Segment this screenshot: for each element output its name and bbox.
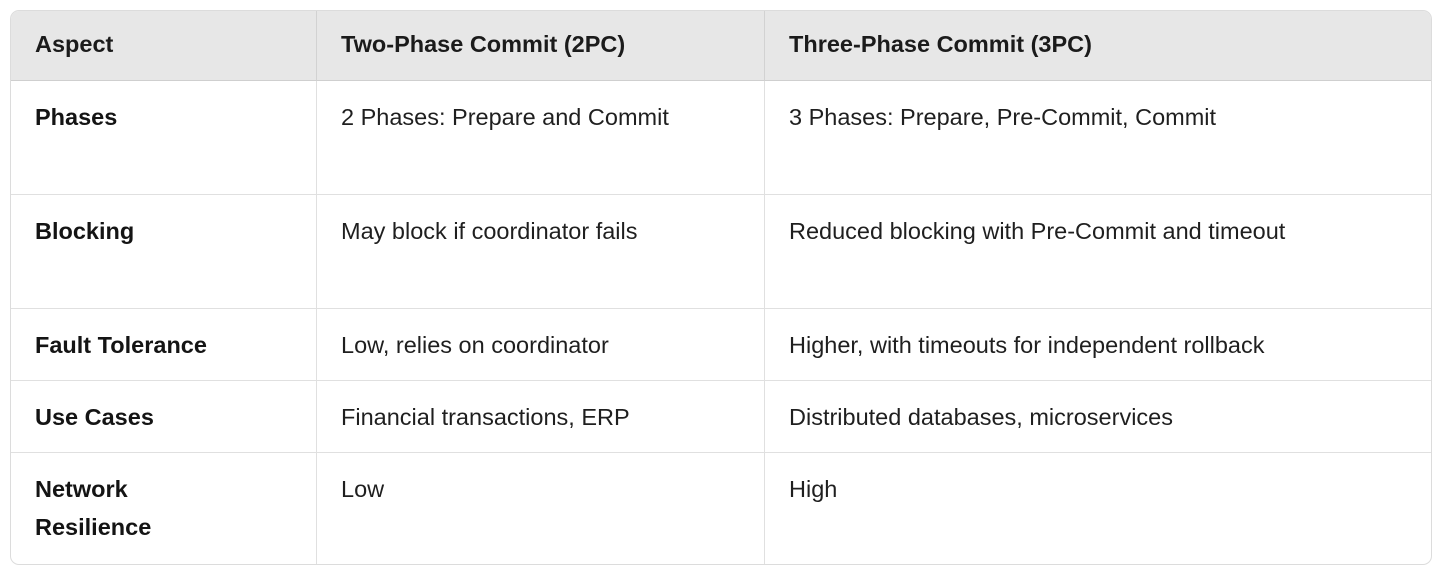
- cell-text: May block if coordinator fails: [341, 212, 671, 250]
- cell-text: Fault Tolerance: [35, 326, 215, 364]
- cell-text: High: [789, 470, 1329, 508]
- cell-text: 2 Phases: Prepare and Commit: [341, 98, 671, 136]
- cell-3pc-network-resilience: High: [765, 453, 1431, 564]
- table-row: Fault Tolerance Low, relies on coordinat…: [11, 309, 1431, 381]
- cell-aspect-fault-tolerance: Fault Tolerance: [11, 309, 317, 381]
- cell-3pc-use-cases: Distributed databases, microservices: [765, 381, 1431, 453]
- cell-text: Phases: [35, 98, 215, 136]
- cell-aspect-network-resilience: Network Resilience: [11, 453, 317, 564]
- cell-text: Low: [341, 470, 671, 508]
- cell-2pc-fault-tolerance: Low, relies on coordinator: [317, 309, 765, 381]
- cell-3pc-fault-tolerance: Higher, with timeouts for independent ro…: [765, 309, 1431, 381]
- table-row: Phases 2 Phases: Prepare and Commit 3 Ph…: [11, 81, 1431, 195]
- cell-aspect-phases: Phases: [11, 81, 317, 195]
- table-row: Blocking May block if coordinator fails …: [11, 195, 1431, 309]
- cell-3pc-blocking: Reduced blocking with Pre-Commit and tim…: [765, 195, 1431, 309]
- cell-text: Low, relies on coordinator: [341, 326, 671, 364]
- cell-aspect-blocking: Blocking: [11, 195, 317, 309]
- cell-text: Blocking: [35, 212, 215, 250]
- table-body: Phases 2 Phases: Prepare and Commit 3 Ph…: [11, 81, 1431, 564]
- cell-2pc-phases: 2 Phases: Prepare and Commit: [317, 81, 765, 195]
- table-header-row: Aspect Two-Phase Commit (2PC) Three-Phas…: [11, 11, 1431, 81]
- table-row: Network Resilience Low High: [11, 453, 1431, 564]
- column-header-two-phase-commit: Two-Phase Commit (2PC): [317, 11, 765, 81]
- table-header: Aspect Two-Phase Commit (2PC) Three-Phas…: [11, 11, 1431, 81]
- cell-2pc-blocking: May block if coordinator fails: [317, 195, 765, 309]
- cell-text: Financial transactions, ERP: [341, 398, 671, 436]
- cell-2pc-network-resilience: Low: [317, 453, 765, 564]
- column-header-aspect: Aspect: [11, 11, 317, 81]
- cell-text: 3 Phases: Prepare, Pre-Commit, Commit: [789, 98, 1329, 136]
- cell-text: Use Cases: [35, 398, 215, 436]
- comparison-table: Aspect Two-Phase Commit (2PC) Three-Phas…: [10, 10, 1432, 565]
- table-row: Use Cases Financial transactions, ERP Di…: [11, 381, 1431, 453]
- cell-3pc-phases: 3 Phases: Prepare, Pre-Commit, Commit: [765, 81, 1431, 195]
- cell-text: Distributed databases, microservices: [789, 398, 1329, 436]
- cell-2pc-use-cases: Financial transactions, ERP: [317, 381, 765, 453]
- comparison-table-container: Aspect Two-Phase Commit (2PC) Three-Phas…: [10, 10, 1432, 565]
- cell-text: Reduced blocking with Pre-Commit and tim…: [789, 212, 1329, 250]
- cell-text: Higher, with timeouts for independent ro…: [789, 326, 1329, 364]
- column-header-three-phase-commit: Three-Phase Commit (3PC): [765, 11, 1431, 81]
- cell-text: Network Resilience: [35, 470, 215, 546]
- cell-aspect-use-cases: Use Cases: [11, 381, 317, 453]
